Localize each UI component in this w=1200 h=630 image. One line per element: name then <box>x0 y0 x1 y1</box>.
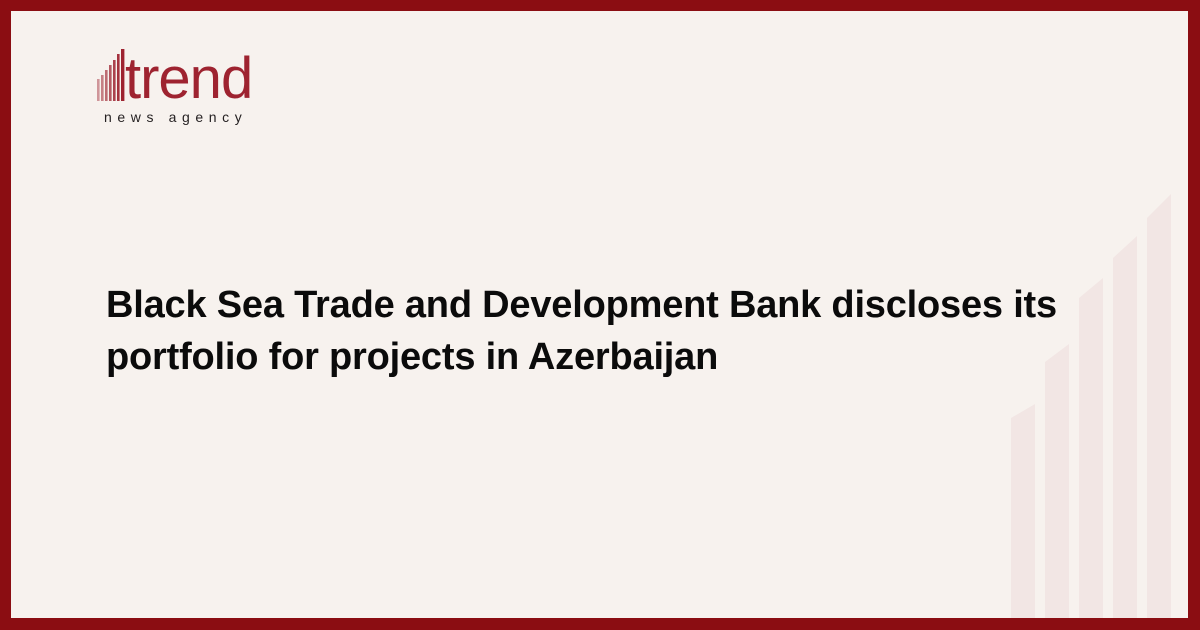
watermark-bar <box>1147 194 1171 618</box>
watermark-bar <box>1113 236 1137 618</box>
logo-wordmark: trend <box>125 53 252 105</box>
trend-bars-mark-icon <box>97 49 127 101</box>
bar-chart-watermark <box>1011 178 1188 618</box>
watermark-bar <box>1011 404 1035 618</box>
logo-tagline: news agency <box>104 109 357 125</box>
card-canvas: trend news agency Black Sea Trade and De… <box>11 11 1188 618</box>
social-card: trend news agency Black Sea Trade and De… <box>0 0 1200 630</box>
headline: Black Sea Trade and Development Bank dis… <box>106 279 1106 383</box>
watermark-bar <box>1045 344 1069 618</box>
trend-logo[interactable]: trend news agency <box>97 45 357 125</box>
logo-row: trend <box>97 45 357 103</box>
